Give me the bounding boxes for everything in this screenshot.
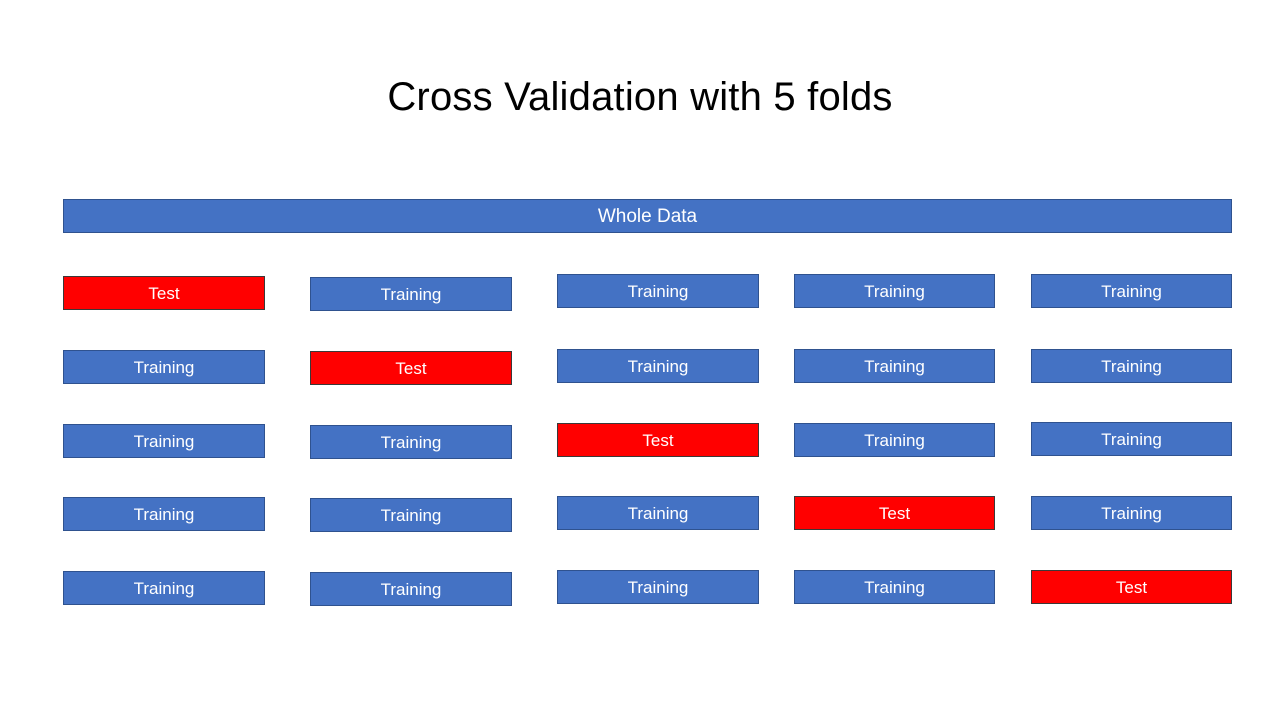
fold-box-label: Training <box>864 358 925 375</box>
fold-box-training-r5-c3[interactable]: Training <box>557 570 759 604</box>
fold-box-label: Test <box>148 285 179 302</box>
fold-box-label: Test <box>1116 579 1147 596</box>
fold-box-test-r5-c5[interactable]: Test <box>1031 570 1232 604</box>
fold-box-training-r4-c1[interactable]: Training <box>63 497 265 531</box>
fold-box-training-r4-c2[interactable]: Training <box>310 498 512 532</box>
fold-box-training-r5-c2[interactable]: Training <box>310 572 512 606</box>
fold-box-label: Training <box>1101 505 1162 522</box>
fold-box-training-r3-c2[interactable]: Training <box>310 425 512 459</box>
fold-box-test-r1-c1[interactable]: Test <box>63 276 265 310</box>
fold-box-training-r1-c5[interactable]: Training <box>1031 274 1232 308</box>
fold-box-label: Training <box>134 433 195 450</box>
fold-box-label: Training <box>381 434 442 451</box>
fold-box-label: Training <box>1101 283 1162 300</box>
fold-box-training-r2-c5[interactable]: Training <box>1031 349 1232 383</box>
fold-box-training-r1-c3[interactable]: Training <box>557 274 759 308</box>
fold-box-test-r3-c3[interactable]: Test <box>557 423 759 457</box>
fold-box-label: Training <box>134 580 195 597</box>
fold-box-label: Training <box>381 507 442 524</box>
fold-box-label: Training <box>1101 431 1162 448</box>
fold-box-training-r3-c4[interactable]: Training <box>794 423 995 457</box>
fold-box-training-r3-c5[interactable]: Training <box>1031 422 1232 456</box>
fold-box-label: Test <box>879 505 910 522</box>
fold-box-training-r4-c5[interactable]: Training <box>1031 496 1232 530</box>
fold-box-test-r2-c2[interactable]: Test <box>310 351 512 385</box>
fold-box-label: Training <box>134 359 195 376</box>
fold-box-label: Training <box>628 505 689 522</box>
fold-box-label: Test <box>642 432 673 449</box>
fold-box-training-r2-c3[interactable]: Training <box>557 349 759 383</box>
fold-box-label: Training <box>864 579 925 596</box>
fold-box-training-r3-c1[interactable]: Training <box>63 424 265 458</box>
fold-box-training-r1-c2[interactable]: Training <box>310 277 512 311</box>
fold-box-label: Training <box>1101 358 1162 375</box>
fold-box-label: Training <box>864 432 925 449</box>
fold-box-label: Training <box>381 581 442 598</box>
slide-canvas: Cross Validation with 5 folds Whole Data… <box>0 0 1280 720</box>
fold-box-label: Training <box>864 283 925 300</box>
fold-box-label: Test <box>395 360 426 377</box>
fold-grid: TestTrainingTrainingTrainingTrainingTrai… <box>0 0 1280 720</box>
fold-box-training-r2-c4[interactable]: Training <box>794 349 995 383</box>
fold-box-label: Training <box>134 506 195 523</box>
fold-box-training-r5-c4[interactable]: Training <box>794 570 995 604</box>
fold-box-training-r2-c1[interactable]: Training <box>63 350 265 384</box>
fold-box-label: Training <box>628 579 689 596</box>
fold-box-label: Training <box>381 286 442 303</box>
fold-box-training-r4-c3[interactable]: Training <box>557 496 759 530</box>
fold-box-test-r4-c4[interactable]: Test <box>794 496 995 530</box>
fold-box-training-r1-c4[interactable]: Training <box>794 274 995 308</box>
fold-box-label: Training <box>628 283 689 300</box>
fold-box-training-r5-c1[interactable]: Training <box>63 571 265 605</box>
fold-box-label: Training <box>628 358 689 375</box>
